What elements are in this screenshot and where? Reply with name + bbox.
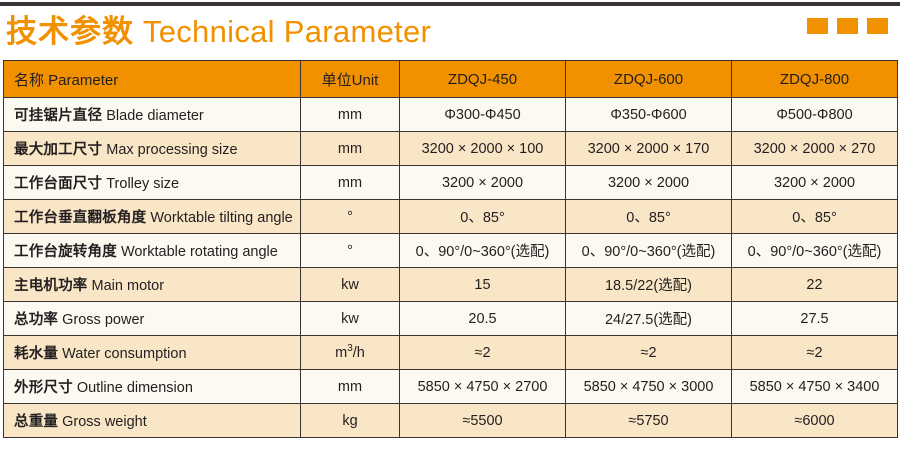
cell-value: Φ350-Φ600 [566,98,732,132]
table-row: 工作台垂直翻板角度 Worktable tilting angle°0、85°0… [4,200,898,234]
parameter-label-chinese: 外形尺寸 [14,380,73,396]
cell-parameter-name: 外形尺寸 Outline dimension [4,370,301,404]
table-row: 工作台旋转角度 Worktable rotating angle°0、90°/0… [4,234,898,268]
cell-value: 3200 × 2000 [400,166,566,200]
table-row: 主电机功率 Main motorkw1518.5/22(选配)22 [4,268,898,302]
cell-parameter-name: 可挂锯片直径 Blade diameter [4,98,301,132]
cell-value: 3200 × 2000 [732,166,898,200]
cell-value: 3200 × 2000 × 270 [732,132,898,166]
table-row: 可挂锯片直径 Blade diametermmΦ300-Φ450Φ350-Φ60… [4,98,898,132]
cell-unit: m3/h [301,336,400,370]
table-row: 最大加工尺寸 Max processing sizemm3200 × 2000 … [4,132,898,166]
cell-value: 5850 × 4750 × 3000 [566,370,732,404]
cell-value: 0、85° [400,200,566,234]
table-row: 总功率 Gross powerkw20.524/27.5(选配)27.5 [4,302,898,336]
parameter-label-chinese: 总功率 [14,312,58,328]
table-row: 总重量 Gross weightkg≈5500≈5750≈6000 [4,404,898,438]
table-header-row: 名称 Parameter 单位Unit ZDQJ-450 ZDQJ-600 ZD… [4,61,898,98]
column-header-model-600: ZDQJ-600 [566,61,732,98]
parameter-label-english: Blade diameter [106,108,204,124]
cell-value: 22 [732,268,898,302]
parameter-label-english: Worktable rotating angle [121,244,278,260]
unit-base: m [335,345,347,361]
cell-unit: kw [301,268,400,302]
cell-parameter-name: 主电机功率 Main motor [4,268,301,302]
cell-value: 0、85° [732,200,898,234]
parameter-label-chinese: 耗水量 [14,346,58,362]
cell-value: 5850 × 4750 × 2700 [400,370,566,404]
cell-value: 20.5 [400,302,566,336]
cell-value: ≈6000 [732,404,898,438]
parameter-label-chinese: 主电机功率 [14,278,88,294]
decorative-square-1 [807,18,828,34]
table-row: 耗水量 Water consumptionm3/h≈2≈2≈2 [4,336,898,370]
cell-value: 24/27.5(选配) [566,302,732,336]
cell-unit: ° [301,200,400,234]
page-title-chinese: 技术参数 [6,14,134,50]
cell-unit: mm [301,370,400,404]
parameter-label-chinese: 最大加工尺寸 [14,142,102,158]
cell-unit: kg [301,404,400,438]
cell-parameter-name: 总重量 Gross weight [4,404,301,438]
column-header-unit: 单位Unit [301,61,400,98]
parameter-label-english: Trolley size [106,176,179,192]
cell-value: ≈5500 [400,404,566,438]
parameter-label-chinese: 工作台旋转角度 [14,244,117,260]
parameter-label-english: Gross power [62,312,144,328]
cell-unit: mm [301,132,400,166]
table-row: 工作台面尺寸 Trolley sizemm3200 × 20003200 × 2… [4,166,898,200]
parameter-label-chinese: 总重量 [14,414,58,430]
parameter-label-english: Main motor [92,278,165,294]
page-title-english: Technical Parameter [134,14,431,49]
spec-sheet-page: 技术参数 Technical Parameter 名称 Parameter 单位… [0,0,900,449]
decorative-squares [807,18,888,34]
cell-value: 0、85° [566,200,732,234]
cell-value: 0、90°/0~360°(选配) [400,234,566,268]
cell-value: ≈2 [566,336,732,370]
cell-unit: mm [301,98,400,132]
parameter-label-english: Worktable tilting angle [150,210,292,226]
page-header: 技术参数 Technical Parameter [0,6,900,58]
cell-value: 3200 × 2000 × 170 [566,132,732,166]
cell-value: 0、90°/0~360°(选配) [732,234,898,268]
cell-value: ≈5750 [566,404,732,438]
cell-parameter-name: 工作台旋转角度 Worktable rotating angle [4,234,301,268]
cell-value: 3200 × 2000 × 100 [400,132,566,166]
cell-value: 15 [400,268,566,302]
table-body: 可挂锯片直径 Blade diametermmΦ300-Φ450Φ350-Φ60… [4,98,898,438]
cell-parameter-name: 耗水量 Water consumption [4,336,301,370]
cell-parameter-name: 工作台面尺寸 Trolley size [4,166,301,200]
technical-parameter-table: 名称 Parameter 单位Unit ZDQJ-450 ZDQJ-600 ZD… [3,60,898,438]
table-header: 名称 Parameter 单位Unit ZDQJ-450 ZDQJ-600 ZD… [4,61,898,98]
cell-parameter-name: 工作台垂直翻板角度 Worktable tilting angle [4,200,301,234]
parameter-label-english: Water consumption [62,346,186,362]
cell-value: 27.5 [732,302,898,336]
parameter-label-english: Max processing size [106,142,237,158]
cell-value: 5850 × 4750 × 3400 [732,370,898,404]
column-header-model-800: ZDQJ-800 [732,61,898,98]
column-header-model-450: ZDQJ-450 [400,61,566,98]
cell-unit: ° [301,234,400,268]
cell-unit: kw [301,302,400,336]
cell-value: 0、90°/0~360°(选配) [566,234,732,268]
page-title: 技术参数 Technical Parameter [6,14,431,50]
cell-value: 18.5/22(选配) [566,268,732,302]
parameter-label-english: Outline dimension [77,380,193,396]
column-header-parameter: 名称 Parameter [4,61,301,98]
decorative-square-3 [867,18,888,34]
unit-tail: /h [353,345,365,361]
cell-value: Φ300-Φ450 [400,98,566,132]
cell-value: ≈2 [732,336,898,370]
cell-parameter-name: 最大加工尺寸 Max processing size [4,132,301,166]
parameter-label-chinese: 可挂锯片直径 [14,108,102,124]
table-row: 外形尺寸 Outline dimensionmm5850 × 4750 × 27… [4,370,898,404]
parameter-label-chinese: 工作台垂直翻板角度 [14,210,146,226]
cell-unit: mm [301,166,400,200]
cell-value: ≈2 [400,336,566,370]
parameter-label-chinese: 工作台面尺寸 [14,176,102,192]
cell-value: Φ500-Φ800 [732,98,898,132]
parameter-label-english: Gross weight [62,414,147,430]
cell-parameter-name: 总功率 Gross power [4,302,301,336]
cell-value: 3200 × 2000 [566,166,732,200]
decorative-square-2 [837,18,858,34]
